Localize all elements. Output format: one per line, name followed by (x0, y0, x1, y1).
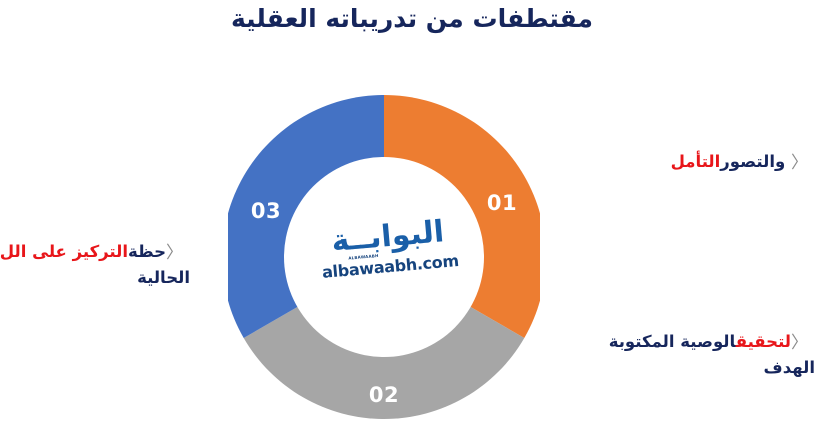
callout-02: 〈لتحقيقالوصية المكتوبة الهدف (560, 330, 815, 380)
callout-02-text-red: لتحقيق (736, 332, 791, 351)
chevron-left-icon: 〈 (166, 241, 183, 266)
donut-hole (284, 157, 484, 357)
donut-label-02: 02 (369, 383, 399, 407)
callout-03-text-red: التركيز على الل (0, 242, 128, 261)
callout-01-text-navy: والتصور (720, 152, 791, 171)
callout-01: 〈 والتصورالتأمل (560, 150, 815, 176)
chevron-left-icon: 〈 (791, 331, 808, 356)
donut-label-03: 03 (251, 199, 281, 223)
callout-01-text-red: التأمل (671, 152, 721, 171)
callout-03-line2: الحالية (8, 266, 190, 290)
callout-01-line1: 〈 والتصورالتأمل (560, 150, 815, 176)
donut-chart: 01 02 03 (228, 91, 540, 423)
callout-02-line1: 〈لتحقيقالوصية المكتوبة (560, 330, 815, 356)
donut-label-01: 01 (487, 191, 517, 215)
callout-03-line1: 〈حظةالتركيز على الل (8, 240, 190, 266)
callout-03-text-navy: حظة (128, 242, 166, 261)
callout-03: 〈حظةالتركيز على الل الحالية (8, 240, 190, 290)
infographic-canvas: مقتطفات من تدريباته العقلية 01 02 03 الب… (0, 0, 824, 431)
callout-02-line2: الهدف (560, 356, 815, 380)
donut-svg: 01 02 03 (228, 91, 540, 423)
callout-02-text-navy: الوصية المكتوبة (609, 332, 736, 351)
chevron-left-icon: 〈 (791, 151, 808, 176)
page-title: مقتطفات من تدريباته العقلية (0, 4, 824, 33)
